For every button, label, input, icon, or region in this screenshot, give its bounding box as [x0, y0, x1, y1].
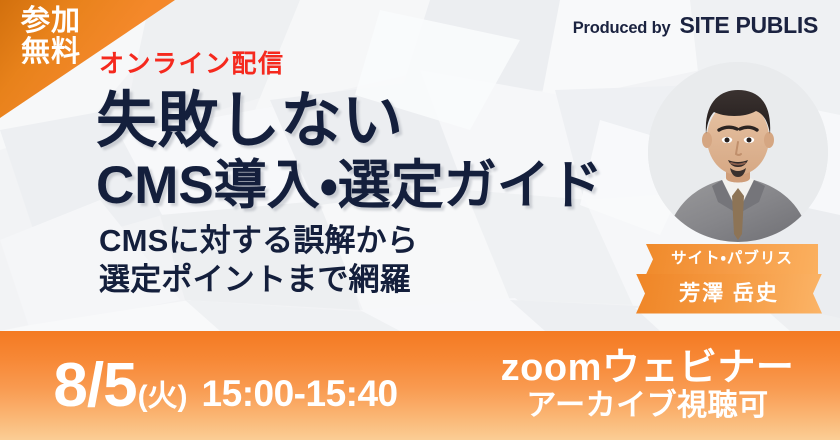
subtitle-line-1: CMSに対する誤解から: [99, 222, 603, 260]
speaker-block: サイト・パブリス 芳澤 岳史: [648, 62, 828, 258]
headline-block: オンライン配信 失敗しない CMS導入・選定ガイド CMSに対する誤解から 選定…: [96, 52, 603, 299]
schedule-date: 8/5: [53, 355, 136, 417]
title-line-1: 失敗しない: [96, 89, 603, 151]
schedule-datetime: 8/5 (火) 15:00-15:40: [0, 355, 465, 417]
producer-credit: Produced by SITE PUBLIS: [573, 12, 818, 39]
eyebrow-label: オンライン配信: [99, 52, 603, 77]
schedule-time: 15:00-15:40: [202, 375, 398, 412]
free-badge-line1: 参加: [8, 6, 94, 37]
producer-brand: SITE PUBLIS: [679, 12, 818, 39]
producer-prefix: Produced by: [573, 19, 671, 38]
title-line-2: CMS導入・選定ガイド: [96, 157, 603, 214]
speaker-company: サイト・パブリス: [646, 244, 818, 275]
schedule-bar: 8/5 (火) 15:00-15:40 zoomウェビナー アーカイブ視聴可: [0, 331, 840, 440]
schedule-day-of-week: (火): [138, 382, 188, 412]
free-badge-line2: 無料: [8, 37, 94, 68]
free-badge-text: 参加 無料: [8, 6, 94, 69]
delivery-archive-note: アーカイブ視聴可: [465, 389, 830, 423]
delivery-platform: zoomウェビナー: [465, 348, 830, 389]
speaker-photo: [648, 62, 828, 258]
webinar-banner: 参加 無料 Produced by SITE PUBLIS オンライン配信 失敗…: [0, 0, 840, 440]
delivery-info: zoomウェビナー アーカイブ視聴可: [465, 348, 840, 423]
subtitle-block: CMSに対する誤解から 選定ポイントまで網羅: [99, 222, 603, 299]
speaker-avatar: [648, 62, 828, 242]
subtitle-line-2: 選定ポイントまで網羅: [99, 261, 603, 299]
speaker-portrait-illustration: [648, 62, 828, 242]
speaker-name: 芳澤 岳史: [636, 274, 822, 314]
speaker-name-ribbon: サイト・パブリス 芳澤 岳史: [636, 244, 832, 314]
